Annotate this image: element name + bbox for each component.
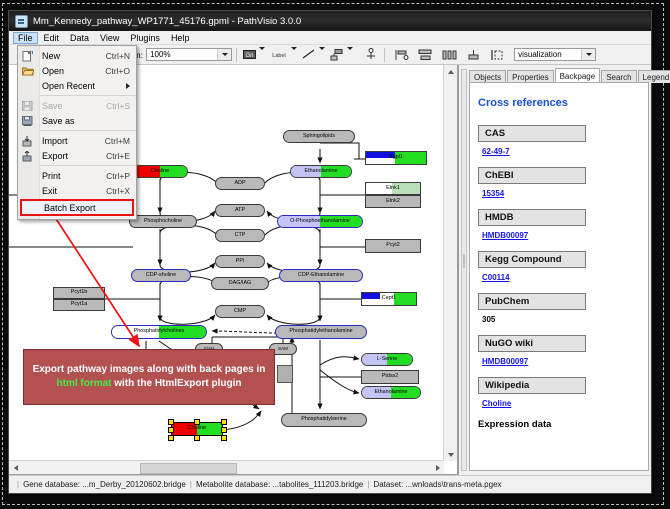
canvas-vertical-scrollbar[interactable] — [443, 65, 457, 461]
zoom-value: 100% — [150, 50, 217, 59]
group-tool-icon[interactable] — [489, 47, 505, 63]
node-adp[interactable]: ADP — [215, 177, 265, 190]
callout-anchor-shape — [277, 365, 293, 383]
distribute-tool-icon[interactable] — [441, 47, 457, 63]
node-l-serine[interactable]: L-Serine — [361, 353, 413, 366]
line-dropdown-icon[interactable] — [319, 50, 325, 60]
node-phosphocholine[interactable]: Phosphocholine — [129, 215, 197, 228]
line-tool-icon[interactable] — [301, 47, 317, 63]
menu-item-print-label: Print — [42, 171, 106, 181]
pathvisio-application-window: Mm_Kennedy_pathway_WP1771_45176.gpml - P… — [8, 10, 652, 494]
scroll-left-icon[interactable] — [9, 461, 22, 474]
resize-handle-nw[interactable] — [168, 419, 174, 425]
status-divider-1: | — [190, 480, 192, 489]
status-dataset-value: ...wnloads\trans-meta.pgex — [405, 480, 501, 489]
gene-pcyt1b[interactable]: Pcyt1b — [53, 287, 105, 299]
side-panel: Objects Properties Backpage Search Legen… — [458, 65, 651, 475]
menu-help[interactable]: Help — [166, 32, 195, 44]
xref-header-wikipedia: Wikipedia — [478, 377, 586, 394]
horizontal-scroll-thumb[interactable] — [140, 463, 238, 474]
menu-item-exit-label: Exit — [42, 186, 106, 196]
panel-drag-handle[interactable] — [461, 69, 467, 471]
resize-handle-e[interactable] — [221, 427, 227, 433]
gene-etnk2[interactable]: Etnk2 — [365, 195, 421, 208]
cept1-expression-right — [394, 293, 416, 305]
scroll-right-icon[interactable] — [431, 461, 444, 474]
resize-handle-s[interactable] — [194, 435, 200, 441]
menu-item-export-label: Export — [42, 151, 106, 161]
new-document-icon — [22, 51, 35, 61]
resize-handle-w[interactable] — [168, 427, 174, 433]
gene-sgpl1[interactable]: Sgpl1 — [365, 151, 427, 165]
window-title: Mm_Kennedy_pathway_WP1771_45176.gpml - P… — [33, 16, 301, 27]
menu-item-new-accel: Ctrl+N — [106, 51, 130, 61]
node-choline[interactable]: Choline — [132, 165, 188, 178]
resize-handle-ne[interactable] — [221, 419, 227, 425]
menu-item-save-label: Save — [42, 101, 106, 111]
node-ethanolamine-top[interactable]: Ethanolamine — [290, 165, 352, 178]
menu-item-batch-export[interactable]: Batch Export — [20, 199, 134, 216]
menu-item-save-as-label: Save as — [42, 116, 130, 126]
node-phosphatidylserine[interactable]: Phosphatidylserine — [281, 413, 367, 427]
xref-value-chebi[interactable]: 15354 — [482, 189, 640, 198]
node-cdp-choline[interactable]: CDP-sholine — [131, 269, 191, 282]
menu-item-export-accel: Ctrl+E — [106, 151, 130, 161]
xref-value-hmdb[interactable]: HMDB00097 — [482, 231, 640, 240]
menu-item-exit-accel: Ctrl+X — [106, 186, 130, 196]
status-dataset-label: Dataset: — [373, 480, 403, 489]
menu-item-open-accel: Ctrl+O — [105, 66, 130, 76]
anchor-tool-icon[interactable] — [363, 47, 379, 63]
label-dropdown-icon[interactable] — [291, 50, 297, 60]
menu-separator-3 — [40, 165, 136, 166]
zoom-combobox[interactable]: 100% — [146, 48, 232, 61]
menu-item-import[interactable]: Import Ctrl+M — [18, 133, 136, 148]
menu-item-batch-export-label: Batch Export — [44, 203, 126, 213]
chevron-down-icon[interactable] — [217, 49, 231, 60]
cept1-expression-topleft — [362, 293, 380, 299]
visualization-combobox[interactable]: visualization — [514, 48, 596, 61]
menu-item-print[interactable]: Print Ctrl+P — [18, 168, 136, 183]
pathvisio-icon — [15, 15, 28, 28]
node-o-phosphoethanolamine[interactable]: O-Phosphoethanolamine — [277, 215, 363, 228]
menu-item-open-label: Open — [42, 66, 105, 76]
xref-header-chebi: ChEBI — [478, 167, 586, 184]
menu-file[interactable]: File — [13, 32, 38, 44]
canvas-horizontal-scrollbar[interactable] — [9, 460, 444, 474]
node-dag[interactable]: DAG/IAG — [211, 277, 269, 290]
xref-value-kegg-compound[interactable]: C00114 — [482, 273, 640, 282]
menu-separator-1 — [40, 95, 136, 96]
menu-item-save-accel: Ctrl+S — [106, 101, 130, 111]
menu-plugins[interactable]: Plugins — [125, 32, 165, 44]
menu-separator-2 — [40, 130, 136, 131]
menu-item-save-as[interactable]: Save as — [18, 113, 136, 128]
import-icon — [22, 136, 35, 146]
svg-text:Label: Label — [272, 53, 285, 59]
gene-etnk1[interactable]: Etnk1 — [365, 182, 421, 195]
scroll-down-icon[interactable] — [444, 448, 457, 461]
xref-value-cas[interactable]: 62-49-7 — [482, 147, 640, 156]
html-export-callout: Export pathway images along with back pa… — [23, 349, 275, 405]
open-folder-icon — [22, 66, 35, 76]
status-gene-database-label: Gene database: — [23, 480, 80, 489]
node-ethanolamine-bottom[interactable]: Ethanolamine — [361, 386, 421, 399]
xref-value-nugo-wiki[interactable]: HMDB00097 — [482, 357, 640, 366]
status-bar: | Gene database: ...m_Derby_20120602.bri… — [9, 475, 651, 493]
resize-handle-n[interactable] — [194, 419, 200, 425]
node-cdp-ethanolamine[interactable]: CDP-Ethanolamine — [279, 269, 363, 282]
file-menu-popup[interactable]: New Ctrl+N Open Ctrl+O Open Recent Save — [17, 45, 137, 220]
save-disk-icon — [22, 101, 35, 111]
menu-item-open-recent[interactable]: Open Recent — [18, 78, 136, 93]
xref-header-nugo-wiki: NuGO wiki — [478, 335, 586, 352]
gene-cept1[interactable]: Cept1 — [361, 292, 417, 306]
menu-item-exit[interactable]: Exit Ctrl+X — [18, 183, 136, 198]
resize-handle-se[interactable] — [221, 435, 227, 441]
expression-data-heading: Expression data — [478, 419, 640, 430]
visualization-value: visualization — [518, 50, 581, 59]
xref-header-hmdb: HMDB — [478, 209, 586, 226]
resize-handle-sw[interactable] — [168, 435, 174, 441]
callout-highlight: html format — [57, 378, 112, 389]
xref-header-pubchem: PubChem — [478, 293, 586, 310]
status-metabolite-database-label: Metabolite database: — [196, 480, 270, 489]
tab-backpage[interactable]: Backpage — [555, 68, 601, 83]
menu-item-new-label: New — [42, 51, 106, 61]
common-width-tool-icon[interactable] — [465, 47, 481, 63]
menu-bar: File Edit Data View Plugins Help — [9, 31, 651, 45]
node-ctp[interactable]: CTP — [215, 229, 265, 242]
xref-value-wikipedia[interactable]: Choline — [482, 399, 640, 408]
status-gene-database-value: ...m_Derby_20120602.bridge — [82, 480, 186, 489]
gene-pcyt1a[interactable]: Pcyt1a — [53, 299, 105, 311]
node-ppi[interactable]: PPi — [215, 255, 265, 268]
label-tool-icon[interactable]: Label — [269, 47, 289, 63]
menu-item-new[interactable]: New Ctrl+N — [18, 48, 136, 63]
desktop-background: Mm_Kennedy_pathway_WP1771_45176.gpml - P… — [0, 0, 670, 509]
toolbar-separator — [236, 48, 237, 62]
svg-text:Gn: Gn — [245, 53, 253, 59]
status-divider-0: | — [17, 480, 19, 489]
side-panel-tabs: Objects Properties Backpage Search Legen… — [469, 69, 649, 83]
menu-item-open[interactable]: Open Ctrl+O — [18, 63, 136, 78]
menu-item-print-accel: Ctrl+P — [106, 171, 130, 181]
xref-header-kegg-compound: Kegg Compound — [478, 251, 586, 268]
xref-value-pubchem: 305 — [482, 315, 640, 324]
node-atp[interactable]: ATP — [215, 204, 265, 217]
toolbar-separator-2 — [384, 48, 385, 62]
menu-item-save: Save Ctrl+S — [18, 98, 136, 113]
menu-item-open-recent-label: Open Recent — [42, 81, 126, 91]
align-left-tool-icon[interactable] — [393, 47, 409, 63]
export-icon — [22, 151, 35, 161]
node-sphingolipids[interactable]: Sphingolipids — [283, 130, 355, 143]
callout-text-after: with the HtmlExport plugin — [112, 378, 242, 389]
node-phosphatidylcholines[interactable]: Phosphatidylcholines — [111, 325, 207, 339]
shape-dropdown-icon[interactable] — [347, 50, 353, 60]
align-stack-tool-icon[interactable] — [417, 47, 433, 63]
xref-header-cas: CAS — [478, 125, 586, 142]
save-as-icon — [22, 116, 35, 126]
backpage-content: Cross references CAS 62-49-7 ChEBI 15354… — [469, 82, 649, 471]
gene-ptdss2[interactable]: Ptdss2 — [361, 370, 419, 384]
menu-edit[interactable]: Edit — [39, 32, 65, 44]
gene-pcyt2[interactable]: Pcyt2 — [365, 239, 421, 253]
scroll-up-icon[interactable] — [444, 65, 457, 78]
datanode-tool-icon[interactable]: Gn — [241, 47, 257, 63]
menu-view[interactable]: View — [95, 32, 124, 44]
datanode-dropdown-icon[interactable] — [259, 50, 265, 60]
status-metabolite-database-value: ...tabolites_111203.bridge — [272, 480, 363, 489]
menu-item-export[interactable]: Export Ctrl+E — [18, 148, 136, 163]
menu-item-import-label: Import — [42, 136, 105, 146]
cross-references-heading: Cross references — [478, 97, 640, 109]
status-divider-2: | — [367, 480, 369, 489]
window-title-bar: Mm_Kennedy_pathway_WP1771_45176.gpml - P… — [9, 11, 651, 31]
node-phosphatidylethanolamine[interactable]: Phosphatidylethanolamine — [275, 325, 367, 339]
visualization-chevron-down-icon[interactable] — [581, 49, 595, 60]
callout-text-before: Export pathway images along with back pa… — [33, 364, 266, 375]
menu-data[interactable]: Data — [65, 32, 94, 44]
menu-item-import-accel: Ctrl+M — [105, 136, 130, 146]
shape-tool-icon[interactable] — [329, 47, 345, 63]
submenu-arrow-icon — [126, 83, 130, 89]
node-cmp[interactable]: CMP — [215, 305, 265, 318]
